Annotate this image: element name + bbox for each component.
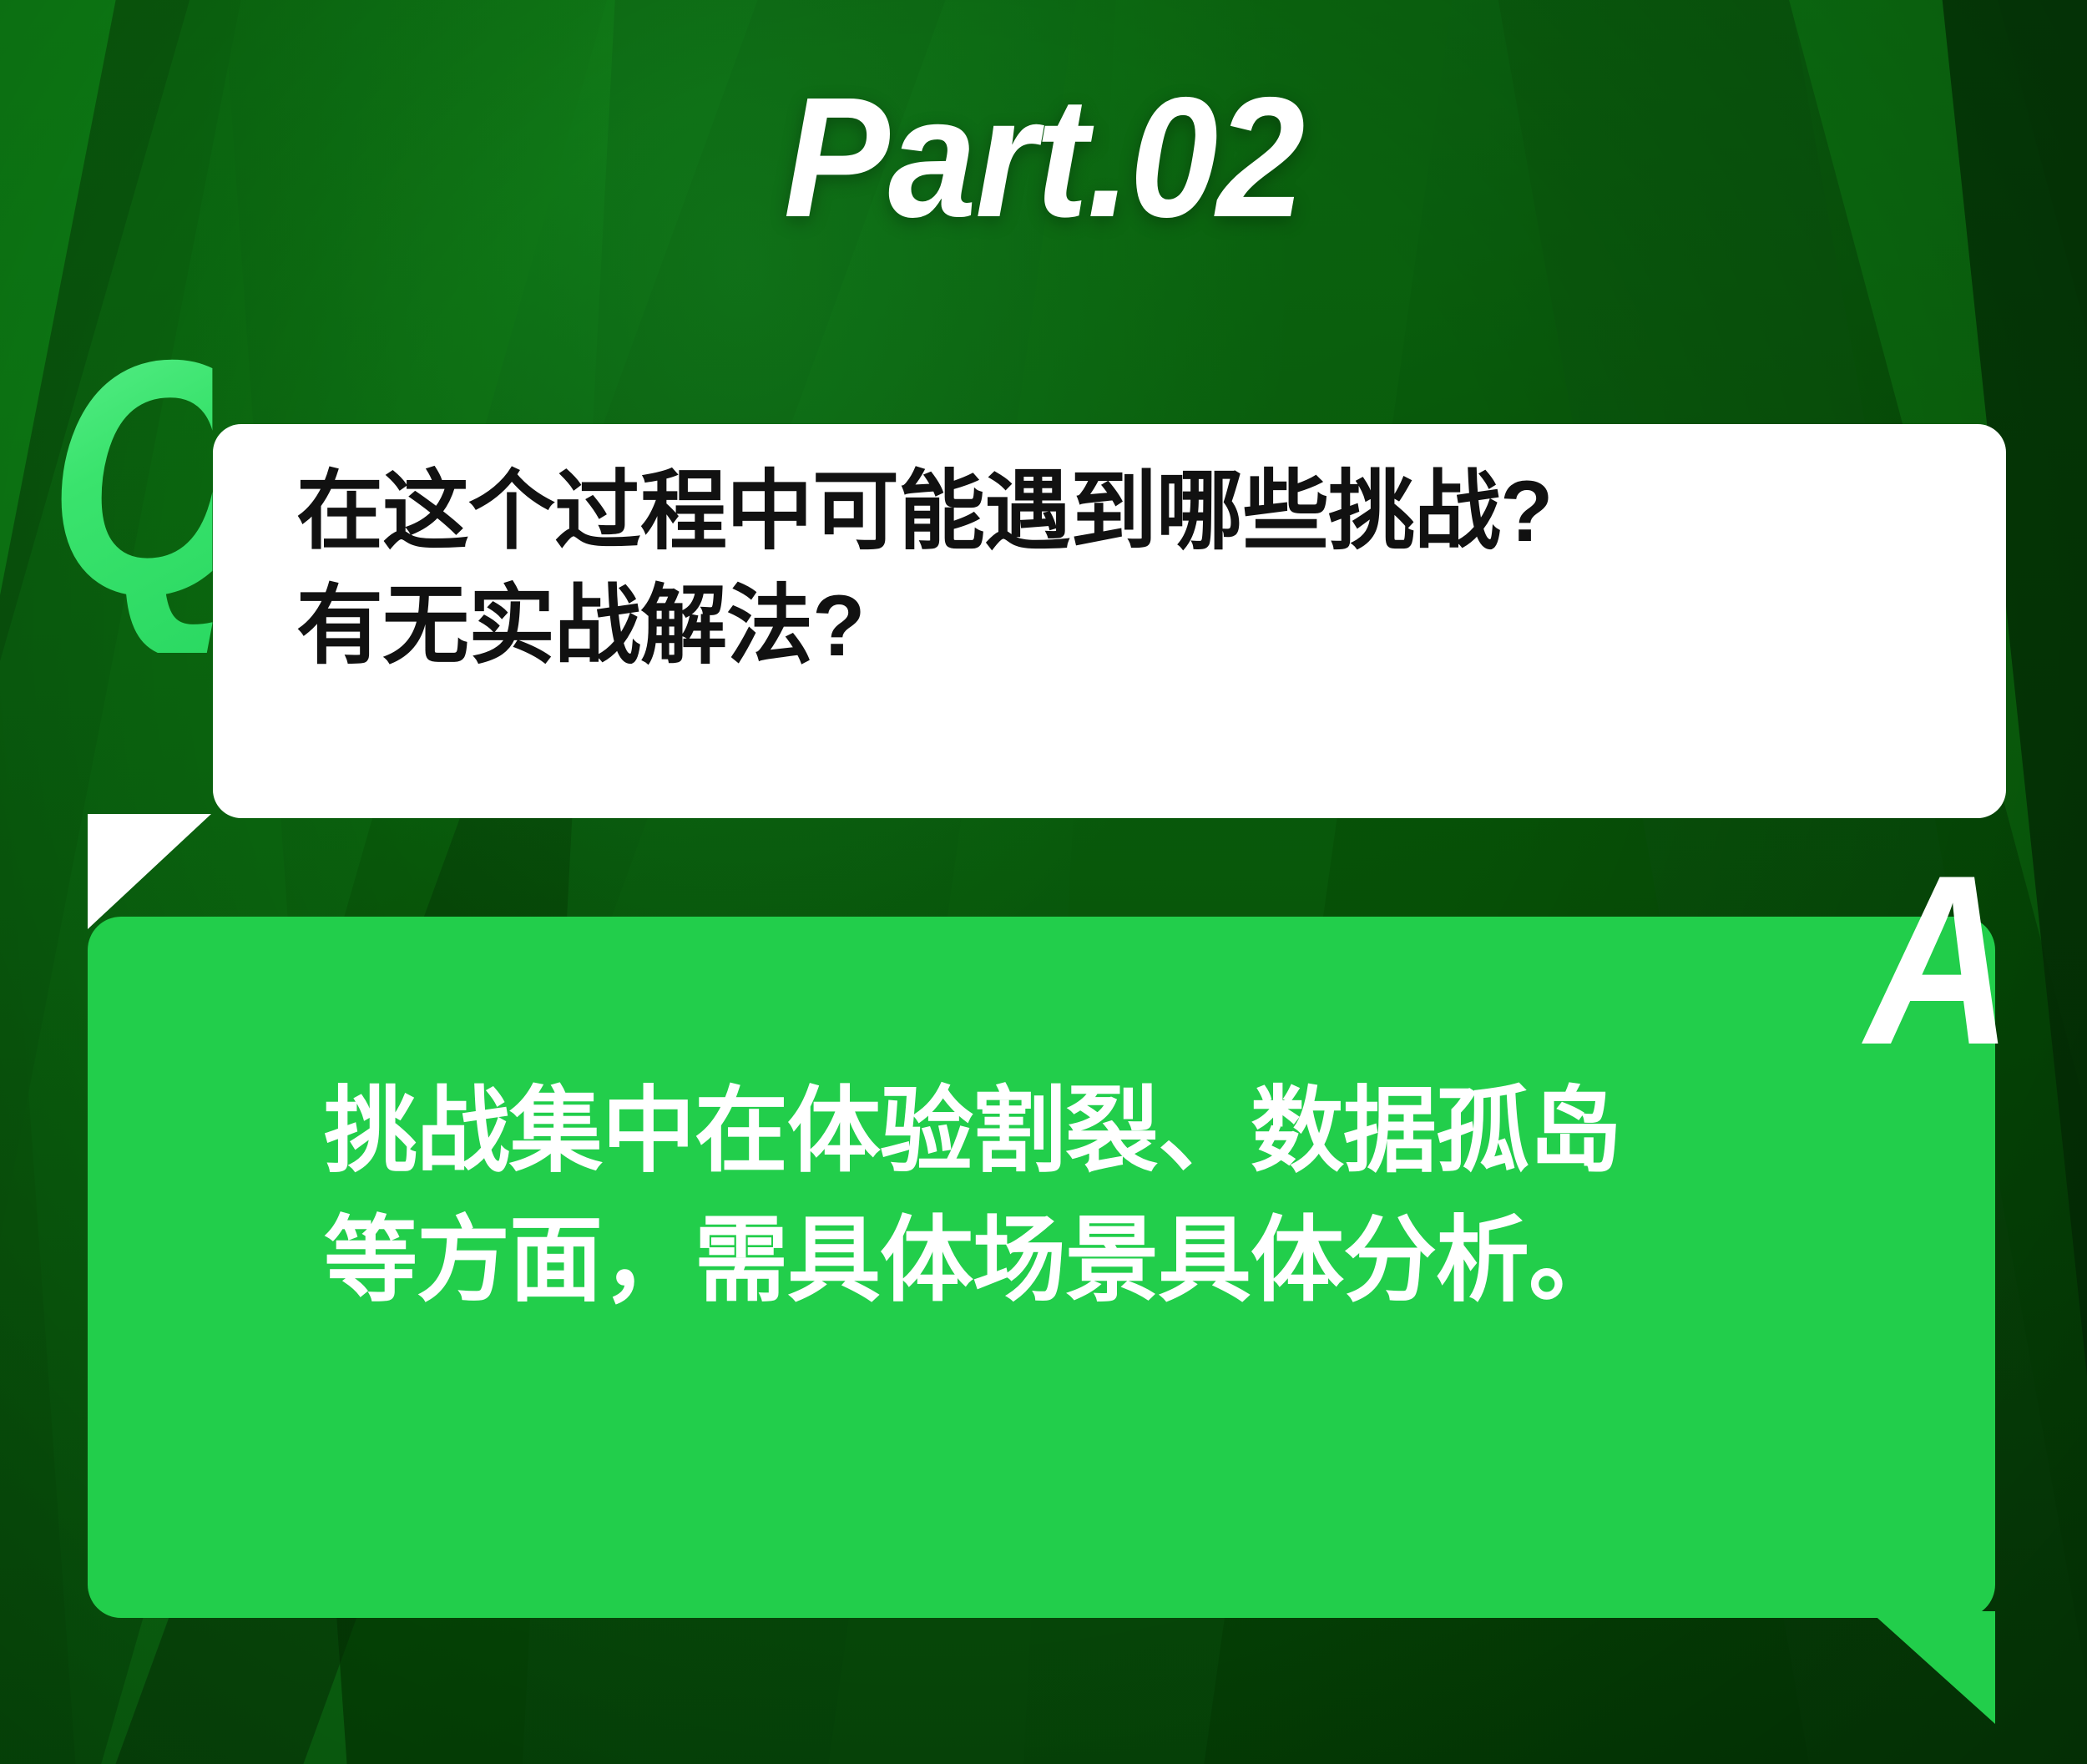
- answer-line-1: 挑战集中在体验割裂、数据孤岛: [324, 1067, 1910, 1196]
- answer-badge-letter: A: [1858, 835, 2019, 1085]
- answer-line-2: 等方面，需具体场景具体分析。: [324, 1196, 1910, 1326]
- question-badge-letter: Q: [48, 302, 213, 653]
- question-text: 在这个过程中可能遇到哪些挑战? 有无实战解法?: [296, 455, 1933, 685]
- question-card-tail: [88, 814, 211, 929]
- question-line-1: 在这个过程中可能遇到哪些挑战?: [296, 455, 1933, 569]
- question-line-2: 有无实战解法?: [296, 569, 1933, 684]
- answer-text: 挑战集中在体验割裂、数据孤岛 等方面，需具体场景具体分析。: [324, 1067, 1910, 1325]
- page-title: Part.02: [73, 72, 2014, 243]
- slide-canvas: Part.02 Q 在这个过程中可能遇到哪些挑战? 有无实战解法? A 挑战集中…: [0, 0, 2087, 1764]
- answer-card-tail: [1870, 1611, 1995, 1724]
